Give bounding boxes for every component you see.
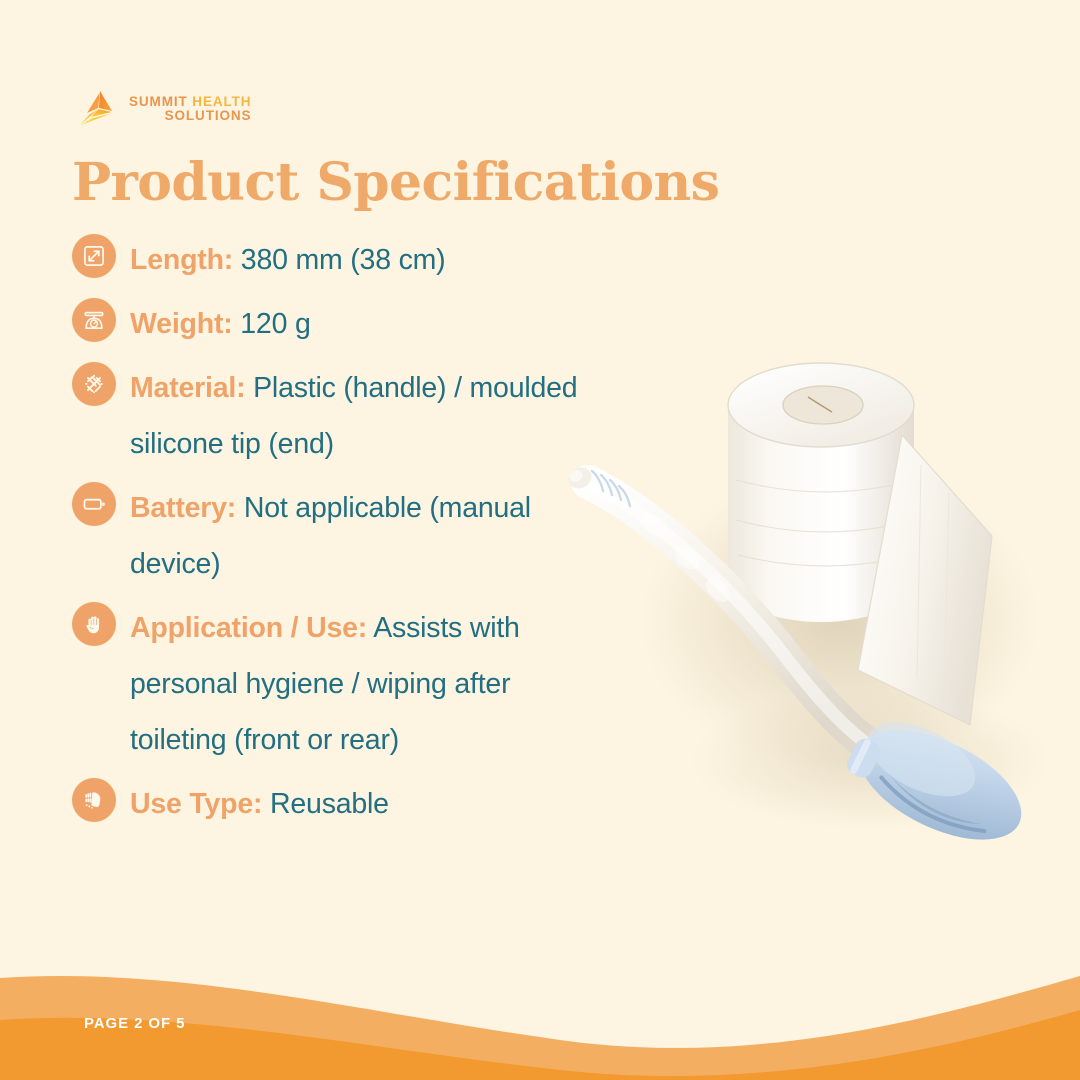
spec-row-length: Length: 380 mm (38 cm) xyxy=(72,232,592,288)
brand-word-summit: SUMMIT xyxy=(129,94,192,109)
spec-row-weight: Weight: 120 g xyxy=(72,296,592,352)
specifications-list: Length: 380 mm (38 cm) Weight: 120 g xyxy=(72,232,592,840)
spec-text-battery: Battery: Not applicable (manual device) xyxy=(130,480,592,592)
spec-row-application: Application / Use: Assists with personal… xyxy=(72,600,592,768)
slide-canvas: SUMMIT HEALTH SOLUTIONS Product Specific… xyxy=(0,0,1080,1080)
brand-wordmark: SUMMIT HEALTH SOLUTIONS xyxy=(129,93,251,123)
spec-text-length: Length: 380 mm (38 cm) xyxy=(130,232,445,288)
hand-palm-icon xyxy=(72,602,116,646)
spec-label-application: Application / Use: xyxy=(130,612,367,644)
spec-label-battery: Battery: xyxy=(130,492,236,524)
brand-logo: SUMMIT HEALTH SOLUTIONS xyxy=(78,82,358,134)
spec-label-weight: Weight: xyxy=(130,308,233,340)
spec-text-use-type: Use Type: Reusable xyxy=(130,776,389,832)
spec-value-weight: 120 g xyxy=(233,308,311,340)
battery-icon xyxy=(72,482,116,526)
spec-value-use-type: Reusable xyxy=(262,788,389,820)
spec-value-length: 380 mm (38 cm) xyxy=(233,244,445,276)
product-photo xyxy=(540,330,1080,890)
spec-row-battery: Battery: Not applicable (manual device) xyxy=(72,480,592,592)
spec-text-application: Application / Use: Assists with personal… xyxy=(130,600,592,768)
spec-row-material: Material: Plastic (handle) / moulded sil… xyxy=(72,360,592,472)
weighing-scale-icon xyxy=(72,298,116,342)
dimension-arrow-icon xyxy=(72,234,116,278)
woven-material-icon xyxy=(72,362,116,406)
spec-label-use-type: Use Type: xyxy=(130,788,262,820)
summit-triangle-mark-icon xyxy=(78,87,120,129)
spec-row-use-type: Use Type: Reusable xyxy=(72,776,592,832)
hand-brush-icon xyxy=(72,778,116,822)
page-number-label: PAGE 2 OF 5 xyxy=(84,1015,185,1032)
spec-label-material: Material: xyxy=(130,372,245,404)
footer-wave-decoration xyxy=(0,880,1080,1080)
spec-text-material: Material: Plastic (handle) / moulded sil… xyxy=(130,360,592,472)
brand-word-health: HEALTH xyxy=(192,94,251,109)
spec-text-weight: Weight: 120 g xyxy=(130,296,311,352)
brand-line-two: SOLUTIONS xyxy=(129,109,251,123)
spec-label-length: Length: xyxy=(130,244,233,276)
brand-line-one: SUMMIT HEALTH xyxy=(129,95,251,109)
page-title: Product Specifications xyxy=(72,152,719,213)
